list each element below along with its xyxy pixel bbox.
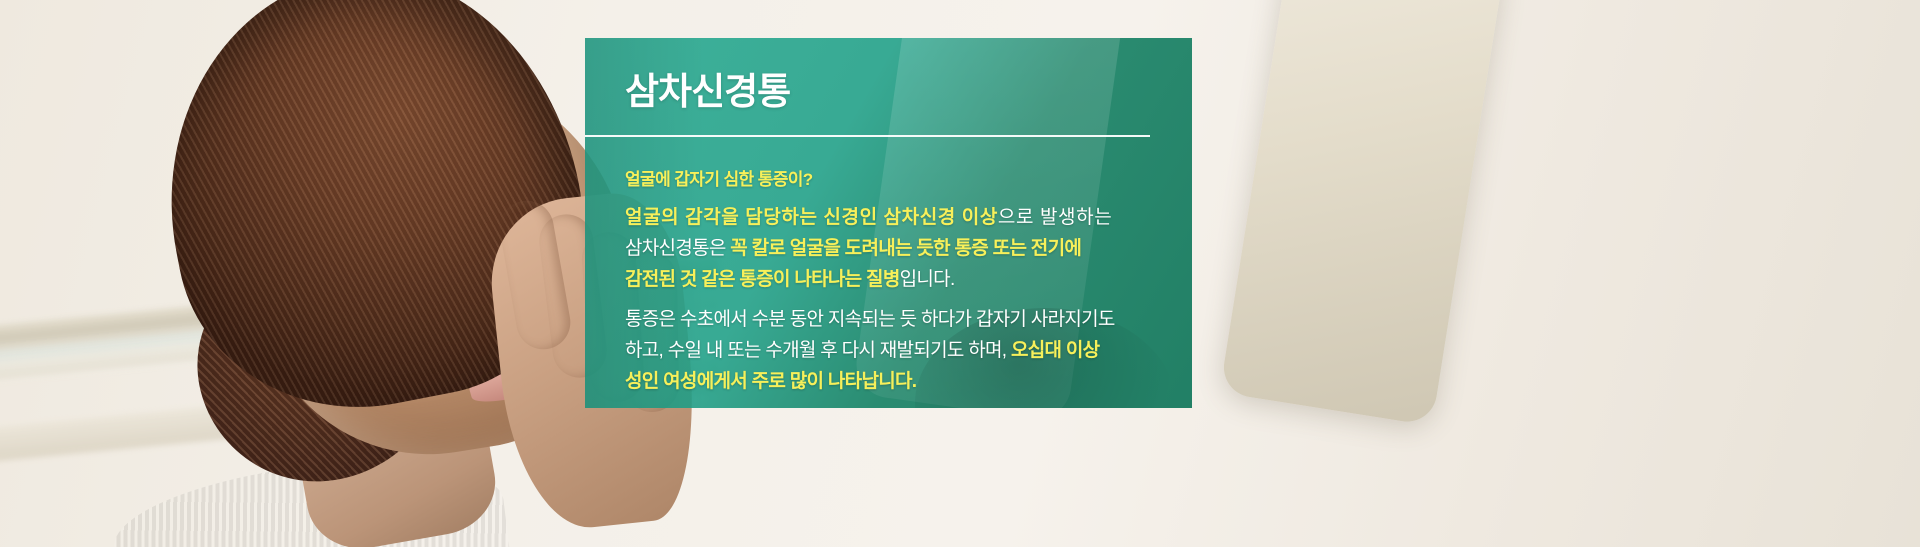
health-info-banner: 삼차신경통 얼굴에 갑자기 심한 통증이? 얼굴의 감각을 담당하는 신경인 삼… xyxy=(0,0,1920,547)
title-divider xyxy=(585,135,1150,137)
text-segment: 얼굴의 감각을 담당하는 신경인 삼차신경 이상 xyxy=(625,207,998,228)
paragraph-line: 얼굴의 감각을 담당하는 신경인 삼차신경 이상으로 발생하는 xyxy=(625,202,1192,233)
paragraph-1: 얼굴의 감각을 담당하는 신경인 삼차신경 이상으로 발생하는 삼차신경통은 꼭… xyxy=(625,202,1192,295)
text-segment: 통증은 수초에서 수분 동안 지속되는 듯 하다가 갑자기 사라지기도 xyxy=(625,309,1115,330)
paragraph-line: 통증은 수초에서 수분 동안 지속되는 듯 하다가 갑자기 사라지기도 xyxy=(625,304,1192,335)
text-segment: 입니다. xyxy=(900,269,955,290)
text-segment: 오십대 이상 xyxy=(1011,340,1099,361)
text-segment: 감전된 것 같은 통증이 나타나는 질병 xyxy=(625,269,900,290)
lead-question: 얼굴에 갑자기 심한 통증이? xyxy=(625,165,1192,190)
text-segment: 성인 여성에게서 주로 많이 나타납니다. xyxy=(625,371,916,392)
paragraph-line: 삼차신경통은 꼭 칼로 얼굴을 도려내는 듯한 통증 또는 전기에 xyxy=(625,233,1192,264)
paragraph-2: 통증은 수초에서 수분 동안 지속되는 듯 하다가 갑자기 사라지기도 하고, … xyxy=(625,304,1192,397)
paragraph-line: 하고, 수일 내 또는 수개월 후 다시 재발되기도 하며, 오십대 이상 xyxy=(625,335,1192,366)
text-segment: 하고, 수일 내 또는 수개월 후 다시 재발되기도 하며, xyxy=(625,340,1011,361)
text-segment: 꼭 칼로 얼굴을 도려내는 듯한 통증 또는 전기에 xyxy=(730,238,1081,259)
page-title: 삼차신경통 xyxy=(625,72,1192,113)
paragraph-line: 성인 여성에게서 주로 많이 나타납니다. xyxy=(625,366,1192,397)
info-panel: 삼차신경통 얼굴에 갑자기 심한 통증이? 얼굴의 감각을 담당하는 신경인 삼… xyxy=(585,38,1192,408)
paragraph-line: 감전된 것 같은 통증이 나타나는 질병입니다. xyxy=(625,264,1192,295)
text-segment: 으로 발생하는 xyxy=(998,207,1112,228)
text-segment: 삼차신경통은 xyxy=(625,238,730,259)
